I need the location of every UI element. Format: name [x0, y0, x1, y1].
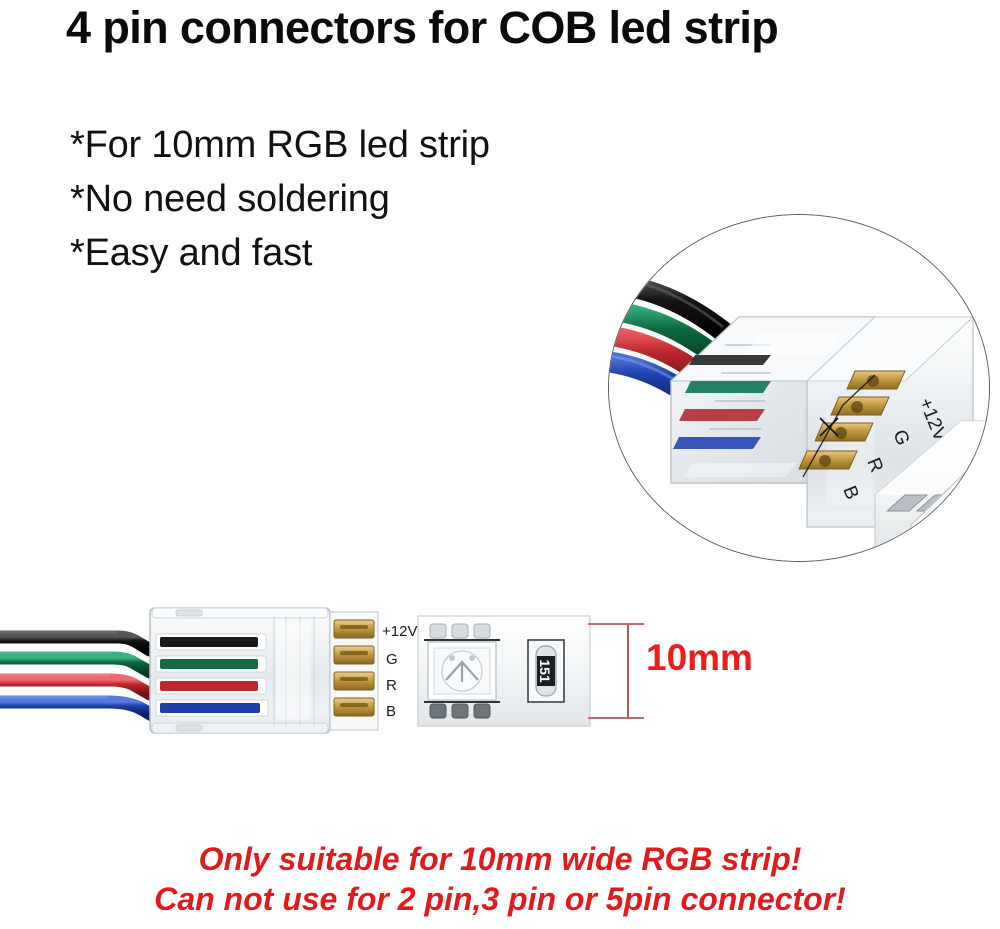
- resistor-code: 151: [537, 659, 553, 683]
- resistor-151: 151: [528, 640, 564, 702]
- led-strip-main: 151: [418, 616, 590, 726]
- page-title: 4 pin connectors for COB led strip: [66, 2, 1000, 54]
- gold-contact-stack: [330, 612, 378, 730]
- warning-line-2: Can not use for 2 pin,3 pin or 5pin conn…: [0, 881, 1000, 918]
- main-connector-photo: +12V G R B: [0, 596, 600, 746]
- warning-line-1: Only suitable for 10mm wide RGB strip!: [0, 841, 1000, 878]
- inset-photo: +12V G R B: [608, 214, 990, 562]
- dimension-cap-bottom: [588, 717, 644, 719]
- feature-item-2: *No need soldering: [70, 172, 630, 226]
- smd-led-5050-main: [428, 642, 496, 700]
- dimension-label: 10mm: [646, 637, 753, 679]
- dimension-cap-top: [588, 623, 644, 625]
- infographic-canvas: 4 pin connectors for COB led strip *For …: [0, 0, 1000, 929]
- dimension-line: [627, 624, 629, 719]
- connector-housing: [150, 608, 330, 733]
- pad-label-12v: +12V: [382, 623, 417, 640]
- connector-with-strip-illustration: +12V G R B: [0, 596, 600, 746]
- feature-list: *For 10mm RGB led strip *No need solderi…: [70, 118, 630, 280]
- pad-label-r: R: [386, 677, 397, 694]
- magnified-connector-inset: +12V G R B: [608, 214, 990, 562]
- pad-label-b: B: [386, 703, 396, 720]
- feature-item-3: *Easy and fast: [70, 226, 630, 280]
- pad-label-g: G: [386, 651, 398, 668]
- connector-closeup-illustration: +12V G R B: [608, 214, 990, 562]
- feature-item-1: *For 10mm RGB led strip: [70, 118, 630, 172]
